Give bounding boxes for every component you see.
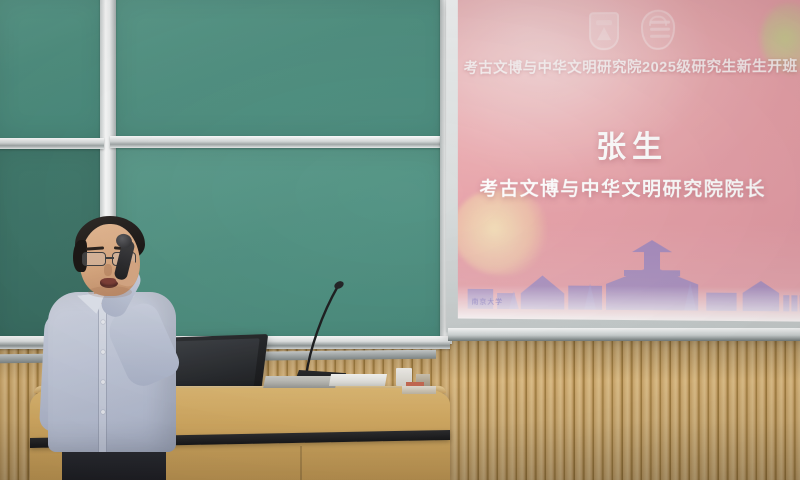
chalkboard-panel-top-left: [0, 0, 104, 138]
wood-slat-wall-right: [450, 330, 800, 480]
shirt-button: [101, 350, 105, 354]
slide-header-text: 考古文博与中华文明研究院2025级研究生新生开班: [464, 54, 800, 77]
speaker-person: [42, 216, 222, 480]
chalkboard-rail-middle-right: [110, 136, 450, 148]
podium-item-tray: [402, 386, 436, 394]
chalkboard-panel-top-right: [114, 0, 448, 138]
slide-speaker-name: 张生: [458, 122, 800, 166]
podium-panel-seam-right: [300, 446, 302, 480]
speaker-shirt-placket: [98, 302, 107, 452]
glasses-bridge: [106, 257, 114, 259]
glasses-lens-left: [82, 252, 106, 266]
speaker-chin-shadow: [88, 286, 132, 298]
shirt-button: [101, 380, 105, 384]
shirt-button: [101, 410, 105, 414]
slide-speaker-role: 考古文博与中华文明研究院院长: [479, 174, 800, 202]
projection-screen: 考古文博与中华文明研究院2025级研究生新生开班 张生 考古文博与中华文明研究院…: [458, 0, 800, 322]
podium-item-red-label: [406, 382, 424, 386]
nju-shield-crest-icon: [589, 12, 619, 50]
projection-screen-bottom-bar: [448, 328, 800, 341]
slide-mist-gradient: [458, 285, 800, 322]
podium-paper-sheet: [329, 374, 387, 386]
institute-seal-icon: [641, 10, 675, 50]
lecture-hall-photo: 考古文博与中华文明研究院2025级研究生新生开班 张生 考古文博与中华文明研究院…: [0, 0, 800, 480]
slide-footer-small-text: 南京大学: [472, 297, 503, 307]
shirt-button: [101, 320, 105, 324]
speaker-nose: [104, 264, 112, 276]
slide-logo-row: [458, 8, 800, 51]
chalkboard-rail-middle-left: [0, 138, 104, 149]
projection-screen-frame: 考古文博与中华文明研究院2025级研究生新生开班 张生 考古文博与中华文明研究院…: [446, 0, 800, 336]
